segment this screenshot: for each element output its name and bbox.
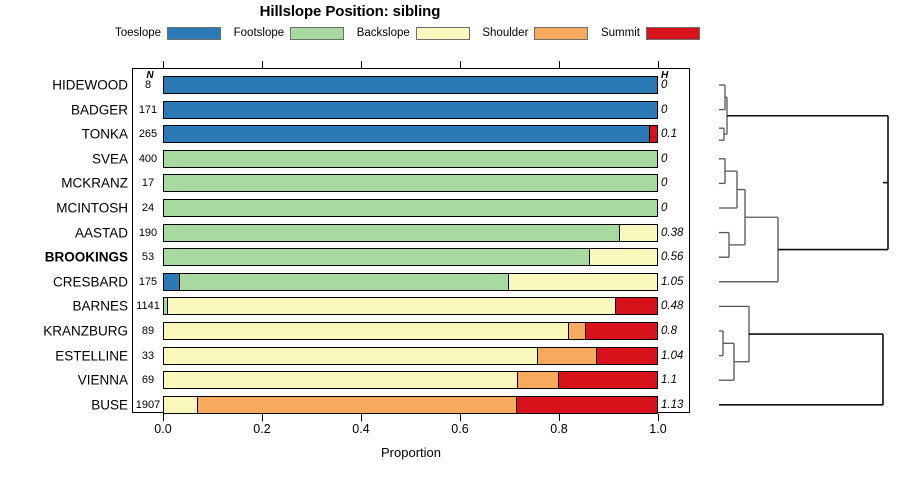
legend-label: Footslope	[234, 27, 285, 39]
row-label-kranzburg[interactable]: KRANZBURG	[43, 324, 128, 339]
legend-item-summit: Summit	[601, 27, 700, 40]
axis-tick-label: 1.0	[649, 422, 666, 436]
row-label-brookings[interactable]: BROOKINGS	[45, 250, 128, 265]
bar-segment-backslope	[590, 249, 657, 265]
stacked-bar[interactable]	[163, 347, 658, 365]
row-n-value: 265	[134, 128, 162, 140]
row-label-barnes[interactable]: BARNES	[72, 299, 128, 314]
bar-segment-toeslope	[164, 77, 657, 93]
axis-tick-label: 0.0	[154, 422, 171, 436]
row-h-value: 1.1	[661, 374, 691, 386]
axis-tick-label: 0.6	[451, 422, 468, 436]
bar-segment-summit	[586, 323, 657, 339]
stacked-bar[interactable]	[163, 224, 658, 242]
row-h-value: 0	[661, 153, 691, 165]
legend-label: Shoulder	[482, 27, 528, 39]
legend-item-backslope: Backslope	[357, 27, 470, 40]
bar-segment-footslope	[164, 200, 657, 216]
stacked-bar[interactable]	[163, 76, 658, 94]
row-label-hidewood[interactable]: HIDEWOOD	[52, 78, 128, 93]
bar-segment-footslope	[180, 274, 509, 290]
axis-tick	[361, 61, 362, 68]
row-label-svea[interactable]: SVEA	[92, 151, 128, 166]
row-h-value: 0	[661, 202, 691, 214]
legend-item-toeslope: Toeslope	[115, 27, 221, 40]
row-h-value: 1.13	[661, 399, 691, 411]
row-h-value: 0.38	[661, 227, 691, 239]
bar-segment-footslope	[164, 249, 590, 265]
row-h-value: 0.56	[661, 251, 691, 263]
row-label-tonka[interactable]: TONKA	[82, 127, 128, 142]
bar-segment-summit	[517, 397, 657, 413]
row-n-value: 53	[134, 251, 162, 263]
bar-segment-summit	[650, 126, 657, 142]
row-label-vienna[interactable]: VIENNA	[78, 373, 128, 388]
row-n-value: 400	[134, 153, 162, 165]
axis-tick	[361, 414, 362, 421]
bar-segment-summit	[616, 298, 657, 314]
stacked-bar[interactable]	[163, 371, 658, 389]
bar-segment-toeslope	[164, 274, 180, 290]
row-label-mcintosh[interactable]: MCINTOSH	[56, 201, 128, 216]
row-h-value: 0	[661, 104, 691, 116]
axis-tick	[262, 61, 263, 68]
row-n-value: 175	[134, 276, 162, 288]
stacked-bar[interactable]	[163, 150, 658, 168]
stacked-bar[interactable]	[163, 273, 658, 291]
legend-swatch-shoulder	[534, 27, 588, 40]
axis-tick	[163, 414, 164, 421]
legend-label: Summit	[601, 27, 640, 39]
row-h-value: 0.48	[661, 300, 691, 312]
bar-segment-backslope	[509, 274, 657, 290]
stacked-bar[interactable]	[163, 101, 658, 119]
row-label-buse[interactable]: BUSE	[91, 397, 128, 412]
legend-swatch-backslope	[416, 27, 470, 40]
row-n-value: 171	[134, 104, 162, 116]
bar-segment-backslope	[168, 298, 616, 314]
bar-segment-footslope	[164, 151, 657, 167]
axis-tick-label: 0.8	[550, 422, 567, 436]
row-n-value: 190	[134, 227, 162, 239]
bar-segment-backslope	[164, 323, 569, 339]
legend-label: Backslope	[357, 27, 410, 39]
row-h-value: 1.05	[661, 276, 691, 288]
row-h-value: 0.8	[661, 325, 691, 337]
axis-tick	[262, 414, 263, 421]
stacked-bar[interactable]	[163, 199, 658, 217]
bar-segment-backslope	[164, 397, 198, 413]
bar-segment-shoulder	[518, 372, 559, 388]
row-h-value: 0	[661, 177, 691, 189]
row-n-value: 1907	[134, 399, 162, 411]
stacked-bar[interactable]	[163, 396, 658, 414]
row-n-value: 8	[134, 79, 162, 91]
x-axis-title: Proportion	[132, 445, 690, 460]
row-n-value: 69	[134, 374, 162, 386]
bar-segment-footslope	[164, 225, 620, 241]
axis-tick	[658, 61, 659, 68]
stacked-bar[interactable]	[163, 322, 658, 340]
bar-segment-footslope	[164, 175, 657, 191]
axis-tick-label: 0.2	[253, 422, 270, 436]
row-label-estelline[interactable]: ESTELLINE	[55, 348, 128, 363]
bar-segment-shoulder	[538, 348, 598, 364]
legend-swatch-summit	[646, 27, 700, 40]
legend-item-footslope: Footslope	[234, 27, 345, 40]
bar-segment-backslope	[164, 372, 518, 388]
row-n-value: 1141	[134, 300, 162, 312]
row-label-aastad[interactable]: AASTAD	[75, 225, 128, 240]
axis-tick	[658, 414, 659, 421]
row-label-mckranz[interactable]: MCKRANZ	[61, 176, 128, 191]
row-h-value: 1.04	[661, 350, 691, 362]
dendrogram	[697, 68, 897, 413]
bar-segment-backslope	[620, 225, 657, 241]
dendrogram-svg	[697, 68, 897, 413]
legend-label: Toeslope	[115, 27, 161, 39]
row-n-value: 24	[134, 202, 162, 214]
page-title: Hillslope Position: sibling	[0, 3, 700, 20]
legend-swatch-footslope	[290, 27, 344, 40]
stacked-bar[interactable]	[163, 125, 658, 143]
bar-segment-backslope	[164, 348, 538, 364]
row-h-value: 0	[661, 79, 691, 91]
bar-segment-toeslope	[164, 126, 650, 142]
row-n-value: 89	[134, 325, 162, 337]
row-n-value: 17	[134, 177, 162, 189]
row-n-value: 33	[134, 350, 162, 362]
stacked-bar[interactable]	[163, 248, 658, 266]
legend-swatch-toeslope	[167, 27, 221, 40]
axis-tick	[163, 61, 164, 68]
bar-segment-summit	[597, 348, 657, 364]
axis-tick	[559, 414, 560, 421]
bar-segment-summit	[559, 372, 657, 388]
stacked-bar[interactable]	[163, 297, 658, 315]
row-label-badger[interactable]: BADGER	[71, 102, 128, 117]
axis-tick	[460, 61, 461, 68]
axis-tick	[559, 61, 560, 68]
axis-tick-label: 0.4	[352, 422, 369, 436]
row-h-value: 0.1	[661, 128, 691, 140]
legend-item-shoulder: Shoulder	[482, 27, 588, 40]
legend: Toeslope Footslope Backslope Shoulder Su…	[115, 25, 700, 41]
row-label-cresbard[interactable]: CRESBARD	[53, 274, 128, 289]
bar-segment-shoulder	[569, 323, 585, 339]
axis-tick	[460, 414, 461, 421]
stacked-bar[interactable]	[163, 174, 658, 192]
bar-segment-toeslope	[164, 102, 657, 118]
bar-segment-shoulder	[198, 397, 517, 413]
